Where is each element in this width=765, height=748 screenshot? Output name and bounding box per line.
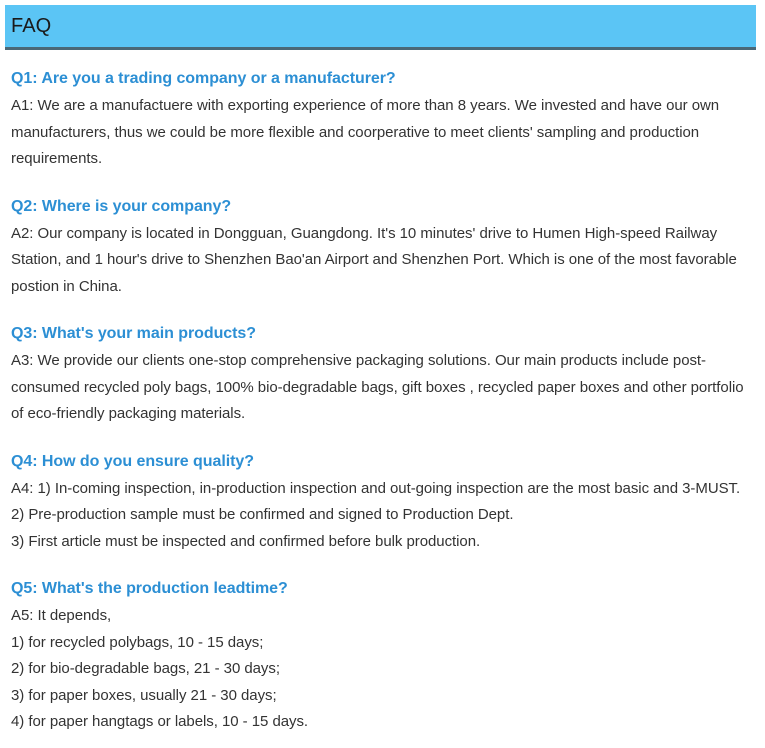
faq-item-4: Q4: How do you ensure quality? A4: 1) In… [11,449,753,556]
faq-answer-2: A2: Our company is located in Dongguan, … [11,221,753,301]
faq-list: Q1: Are you a trading company or a manuf… [11,66,753,736]
faq-answer-1: A1: We are a manufactuere with exporting… [11,93,753,173]
faq-answer-line: A4: 1) In-coming inspection, in-producti… [11,476,753,503]
faq-answer-line: 3) First article must be inspected and c… [11,529,753,556]
faq-item-5: Q5: What's the production leadtime? A5: … [11,576,753,736]
faq-answer-line: 4) for paper hangtags or labels, 10 - 15… [11,709,753,736]
faq-banner-title: FAQ [11,14,51,38]
faq-banner: FAQ [5,5,756,50]
faq-answer-4: A4: 1) In-coming inspection, in-producti… [11,476,753,556]
faq-question-1: Q1: Are you a trading company or a manuf… [11,66,753,91]
faq-answer-5: A5: It depends, 1) for recycled polybags… [11,603,753,736]
faq-answer-line: A3: We provide our clients one-stop comp… [11,348,753,428]
faq-page: FAQ Q1: Are you a trading company or a m… [0,0,765,748]
faq-answer-3: A3: We provide our clients one-stop comp… [11,348,753,428]
faq-question-3: Q3: What's your main products? [11,321,753,346]
faq-answer-line: A5: It depends, [11,603,753,630]
faq-question-4: Q4: How do you ensure quality? [11,449,753,474]
faq-item-2: Q2: Where is your company? A2: Our compa… [11,194,753,301]
faq-answer-line: A2: Our company is located in Dongguan, … [11,221,753,301]
faq-answer-line: 2) for bio-degradable bags, 21 - 30 days… [11,656,753,683]
faq-question-5: Q5: What's the production leadtime? [11,576,753,601]
faq-item-3: Q3: What's your main products? A3: We pr… [11,321,753,428]
faq-answer-line: 1) for recycled polybags, 10 - 15 days; [11,630,753,657]
faq-question-2: Q2: Where is your company? [11,194,753,219]
faq-answer-line: 3) for paper boxes, usually 21 - 30 days… [11,683,753,710]
faq-answer-line: A1: We are a manufactuere with exporting… [11,93,753,173]
faq-answer-line: 2) Pre-production sample must be confirm… [11,502,753,529]
faq-item-1: Q1: Are you a trading company or a manuf… [11,66,753,173]
